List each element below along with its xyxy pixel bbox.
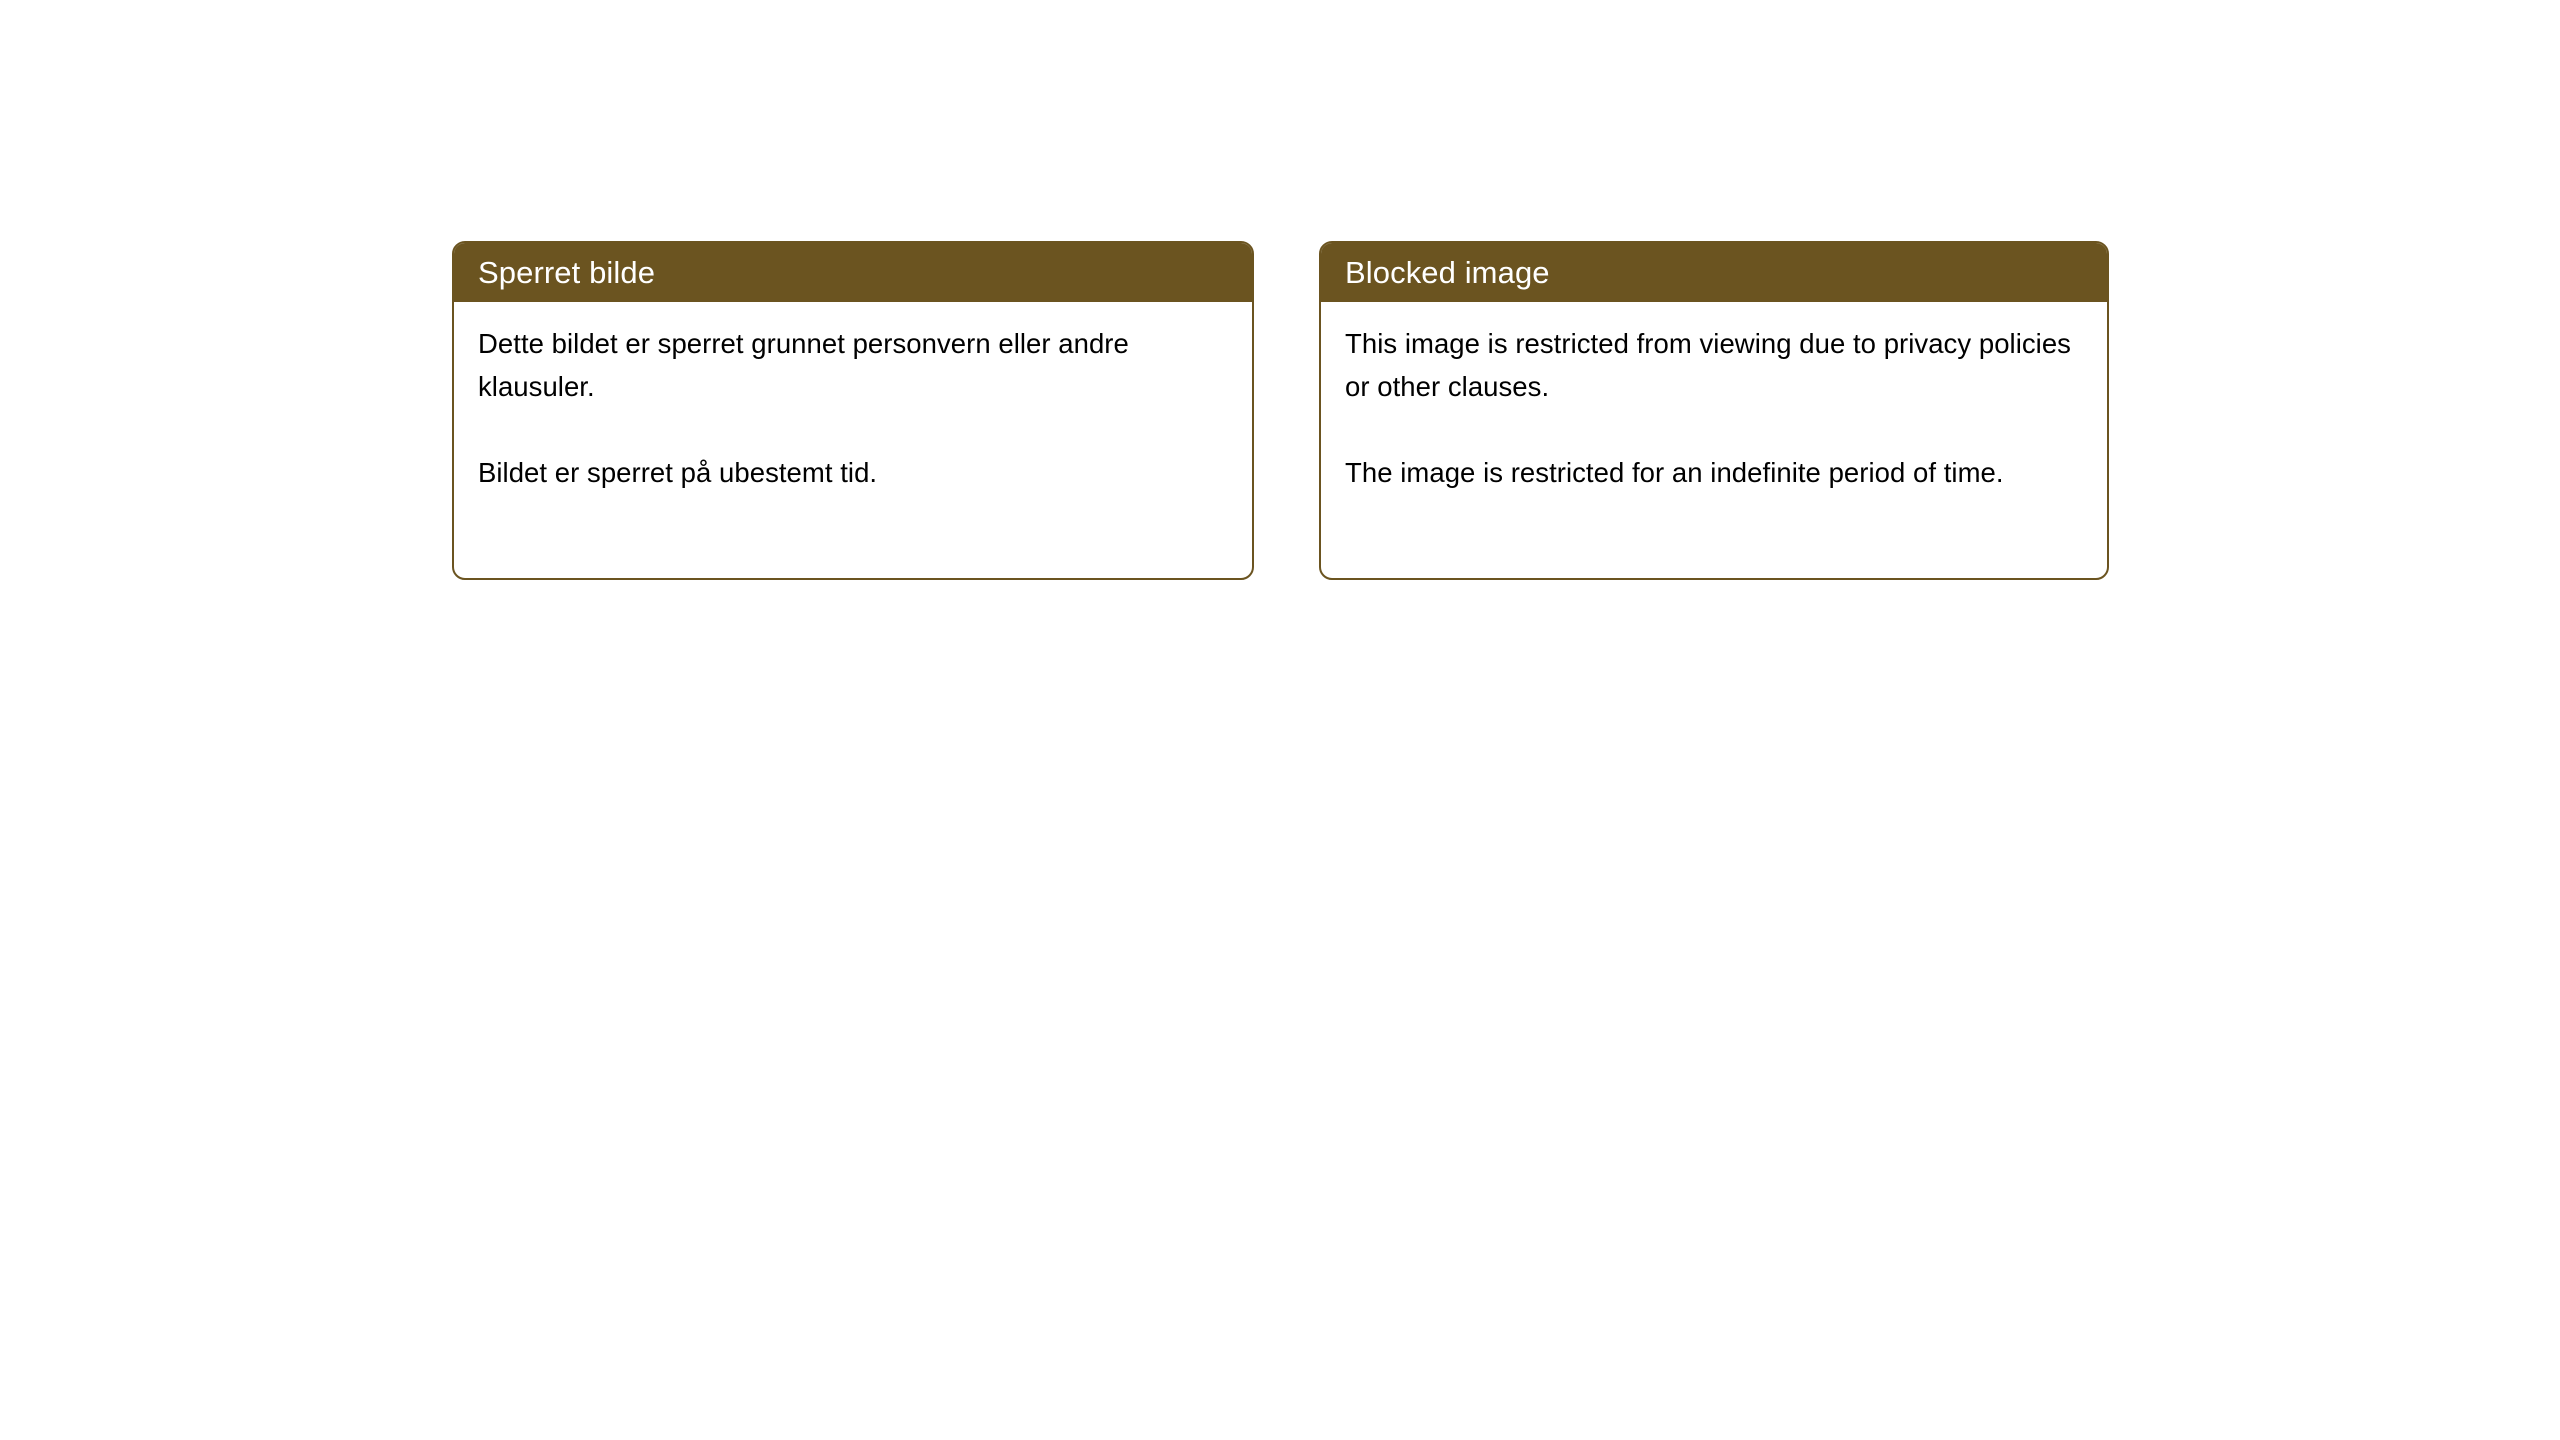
- card-header-english: Blocked image: [1321, 243, 2107, 302]
- card-paragraph-primary-english: This image is restricted from viewing du…: [1345, 322, 2089, 408]
- card-title-norwegian: Sperret bilde: [478, 257, 655, 288]
- card-title-english: Blocked image: [1345, 257, 1550, 288]
- card-body-english: This image is restricted from viewing du…: [1321, 302, 2107, 578]
- card-paragraph-secondary-english: The image is restricted for an indefinit…: [1345, 451, 2089, 494]
- blocked-image-card-english: Blocked image This image is restricted f…: [1319, 241, 2109, 580]
- card-body-norwegian: Dette bildet er sperret grunnet personve…: [454, 302, 1252, 578]
- card-paragraph-secondary-norwegian: Bildet er sperret på ubestemt tid.: [478, 451, 1234, 494]
- blocked-image-card-norwegian: Sperret bilde Dette bildet er sperret gr…: [452, 241, 1254, 580]
- blocked-image-notice-group: Sperret bilde Dette bildet er sperret gr…: [452, 241, 2109, 580]
- card-header-norwegian: Sperret bilde: [454, 243, 1252, 302]
- card-paragraph-primary-norwegian: Dette bildet er sperret grunnet personve…: [478, 322, 1234, 408]
